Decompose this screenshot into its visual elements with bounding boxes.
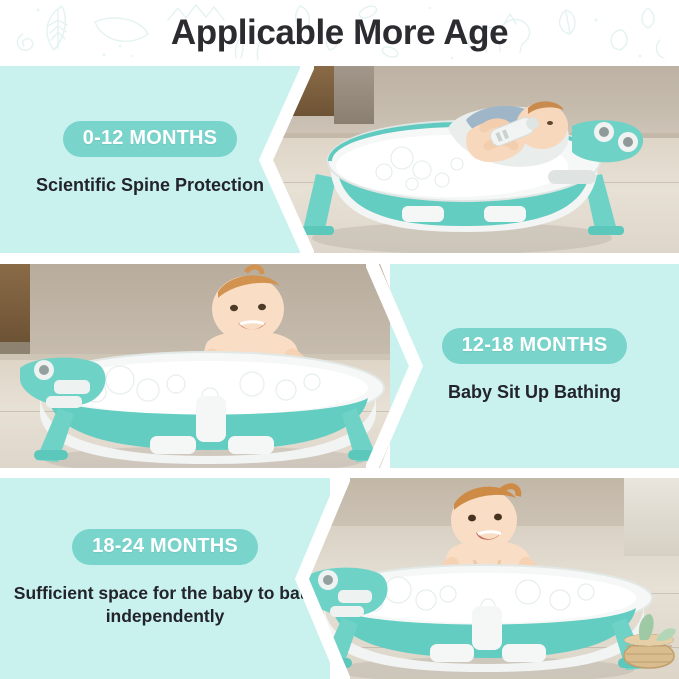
text-pane-0-12: 0-12 MONTHS Scientific Spine Protection — [0, 66, 300, 253]
page-title: Applicable More Age — [0, 0, 679, 66]
age-badge-0-12: 0-12 MONTHS — [63, 121, 237, 157]
text-pane-18-24: 18-24 MONTHS Sufficient space for the ba… — [0, 478, 330, 679]
section-age-0-12: 0-12 MONTHS Scientific Spine Protection — [0, 66, 679, 253]
photo-scene-baby-sitting — [0, 264, 420, 468]
section-age-18-24: 18-24 MONTHS Sufficient space for the ba… — [0, 478, 679, 679]
photo-scene-toddler-sitting — [288, 478, 679, 679]
age-badge-12-18: 12-18 MONTHS — [442, 328, 628, 364]
photo-pane-12-18 — [0, 264, 420, 468]
age-description-18-24: Sufficient space for the baby to bath in… — [13, 582, 317, 628]
text-pane-12-18: 12-18 MONTHS Baby Sit Up Bathing — [390, 264, 679, 468]
section-age-12-18: 12-18 MONTHS Baby Sit Up Bathing — [0, 264, 679, 468]
photo-pane-0-12 — [252, 66, 679, 253]
photo-pane-18-24 — [288, 478, 679, 679]
infographic-page: Applicable More Age 0-12 MONTHS Scientif… — [0, 0, 679, 679]
age-description-0-12: Scientific Spine Protection — [36, 174, 264, 198]
photo-scene-baby-lying — [252, 66, 679, 253]
header: Applicable More Age — [0, 0, 679, 66]
age-description-12-18: Baby Sit Up Bathing — [448, 381, 621, 405]
age-badge-18-24: 18-24 MONTHS — [72, 529, 258, 565]
